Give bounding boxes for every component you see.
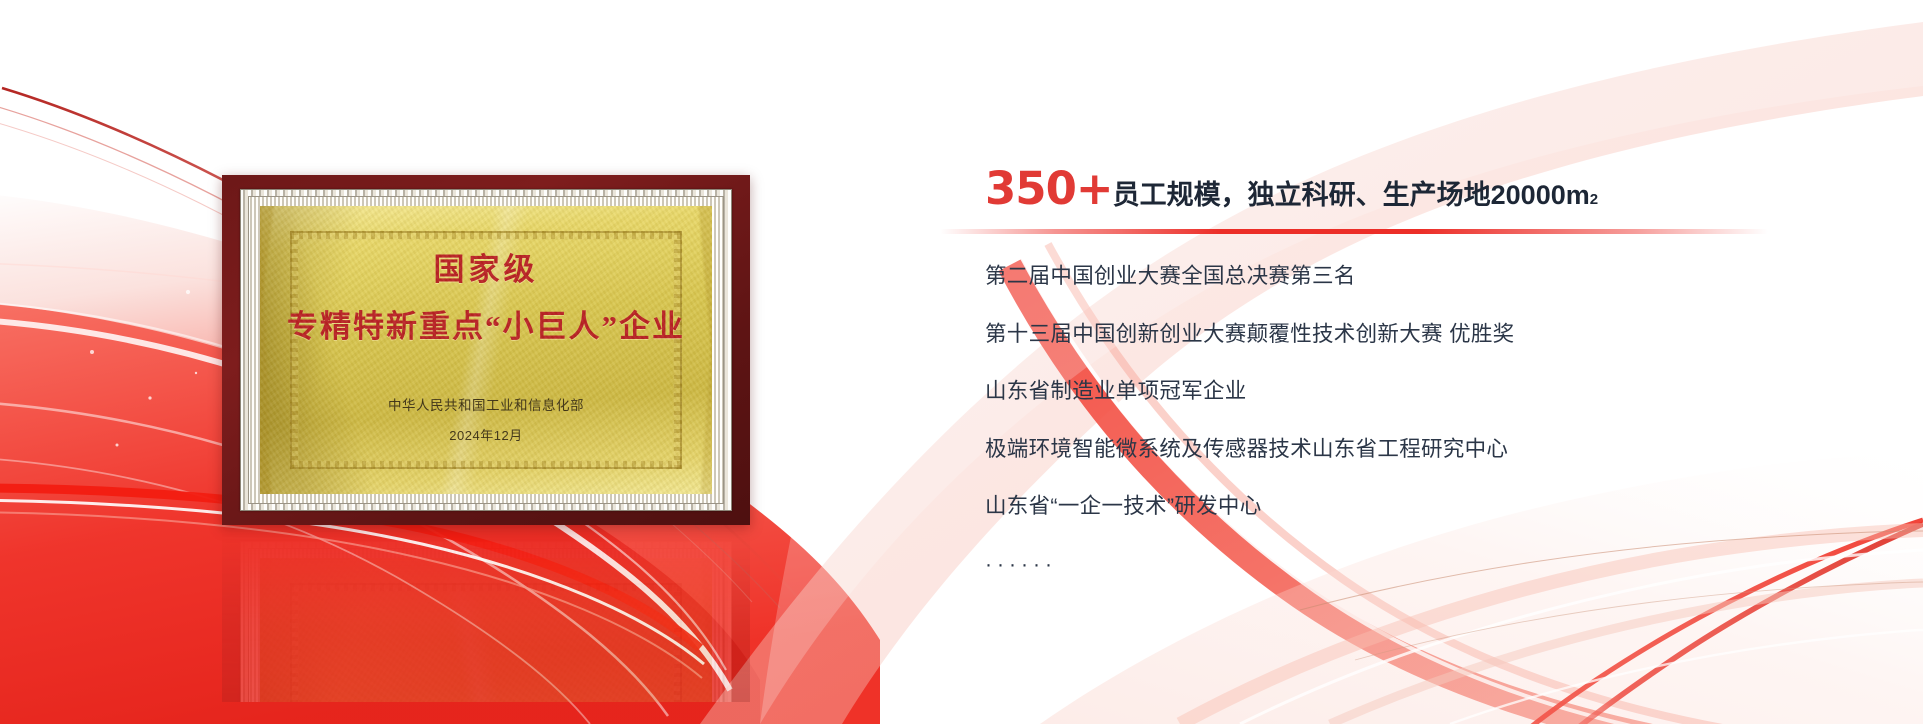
headline-superscript: 2 <box>1590 191 1598 208</box>
plaque-text-block: 国家级 专精特新重点“小巨人”企业 中华人民共和国工业和信息化部 2024年12… <box>260 206 712 494</box>
achievement-item: 山东省“一企一技术”研发中心 <box>985 496 1745 518</box>
plaque-title-line2: 专精特新重点“小巨人”企业 <box>287 311 685 342</box>
headline: 350+ 员工规模，独立科研、生产场地20000m 2 <box>985 166 1745 211</box>
achievement-item: 极端环境智能微系统及传感器技术山东省工程研究中心 <box>985 439 1745 461</box>
headline-number: 350+ <box>985 166 1113 211</box>
plaque-issuer: 中华人民共和国工业和信息化部 <box>388 394 584 414</box>
achievement-item: 第二届中国创业大赛全国总决赛第三名 <box>985 266 1745 288</box>
plaque-silver-border: 国家级 专精特新重点“小巨人”企业 中华人民共和国工业和信息化部 2024年12… <box>240 189 732 511</box>
promo-banner: 国家级 专精特新重点“小巨人”企业 中华人民共和国工业和信息化部 2024年12… <box>0 0 1923 724</box>
award-plaque: 国家级 专精特新重点“小巨人”企业 中华人民共和国工业和信息化部 2024年12… <box>222 175 750 525</box>
plaque-title-line1: 国家级 <box>434 254 539 285</box>
headline-divider <box>940 229 1768 234</box>
plaque-frame: 国家级 专精特新重点“小巨人”企业 中华人民共和国工业和信息化部 2024年12… <box>222 175 750 525</box>
achievement-ellipsis: ······ <box>985 554 1745 575</box>
content-column: 350+ 员工规模，独立科研、生产场地20000m 2 第二届中国创业大赛全国总… <box>985 166 1745 575</box>
plaque-date: 2024年12月 <box>449 425 522 444</box>
headline-text: 员工规模，独立科研、生产场地20000m <box>1113 182 1590 209</box>
achievement-item: 山东省制造业单项冠军企业 <box>985 381 1745 403</box>
achievement-list: 第二届中国创业大赛全国总决赛第三名 第十三届中国创新创业大赛颠覆性技术创新大赛 … <box>985 266 1745 575</box>
achievement-item: 第十三届中国创新创业大赛颠覆性技术创新大赛 优胜奖 <box>985 324 1745 346</box>
plaque-gold-plate: 国家级 专精特新重点“小巨人”企业 中华人民共和国工业和信息化部 2024年12… <box>260 206 712 494</box>
plaque-silver-inner-border: 国家级 专精特新重点“小巨人”企业 中华人民共和国工业和信息化部 2024年12… <box>248 196 724 504</box>
